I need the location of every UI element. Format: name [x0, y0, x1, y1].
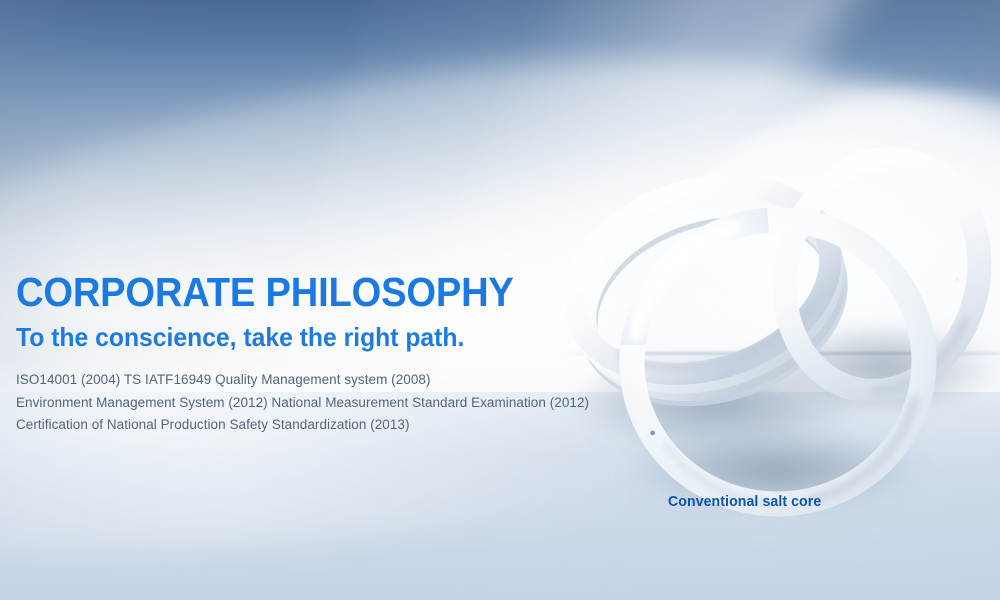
certification-line: Certification of National Production Saf…: [16, 414, 636, 437]
headline-block: CORPORATE PHILOSOPHY To the conscience, …: [16, 272, 636, 437]
certification-list: ISO14001 (2004) TS IATF16949 Quality Man…: [16, 369, 636, 437]
corporate-philosophy-banner: CORPORATE PHILOSOPHY To the conscience, …: [0, 0, 1000, 600]
product-caption: Conventional salt core: [668, 493, 821, 510]
page-title: CORPORATE PHILOSOPHY: [16, 272, 593, 313]
ring-vent-hole: [955, 277, 960, 282]
page-subtitle: To the conscience, take the right path.: [16, 324, 605, 350]
certification-line: Environment Management System (2012) Nat…: [16, 392, 636, 415]
certification-line: ISO14001 (2004) TS IATF16949 Quality Man…: [16, 369, 636, 392]
